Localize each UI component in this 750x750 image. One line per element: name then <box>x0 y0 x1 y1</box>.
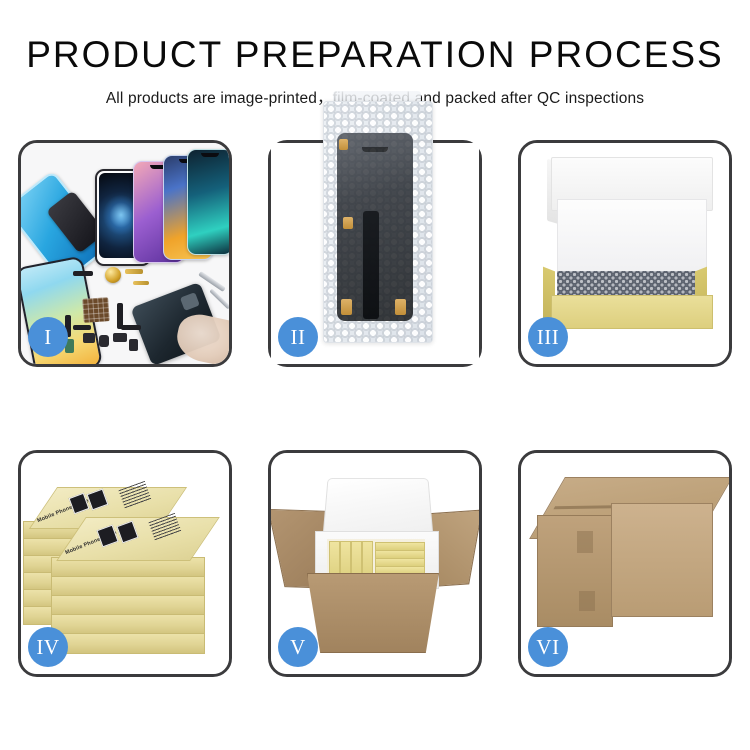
yellow-box-front-icon <box>551 295 713 329</box>
step-badge-2: II <box>278 317 318 357</box>
outer-carton-icon <box>307 573 439 653</box>
step-badge-6: VI <box>528 627 568 667</box>
process-step-panel-6: VI <box>518 450 732 677</box>
carton-left-face-icon <box>537 515 613 627</box>
screw-tray-icon <box>82 297 110 323</box>
process-step-panel-2: II <box>268 140 482 367</box>
process-step-panel-4: Mobile Phone Spare Parts Mobile Phone Sp… <box>18 450 232 677</box>
process-step-panel-1: I <box>18 140 232 367</box>
process-step-grid: I II III <box>18 140 732 677</box>
teal-phone-icon <box>187 149 229 255</box>
step-badge-5: V <box>278 627 318 667</box>
process-step-panel-5: V <box>268 450 482 677</box>
step-badge-3: III <box>528 317 568 357</box>
coil-component-icon <box>105 267 121 283</box>
foam-sheet-icon <box>557 199 707 275</box>
step-badge-4: IV <box>28 627 68 667</box>
process-step-panel-3: III <box>518 140 732 367</box>
carton-right-face-icon <box>611 503 713 617</box>
bubble-wrapped-contents-icon <box>557 271 705 297</box>
step-badge-1: I <box>28 317 68 357</box>
page-title: PRODUCT PREPARATION PROCESS <box>0 36 750 73</box>
